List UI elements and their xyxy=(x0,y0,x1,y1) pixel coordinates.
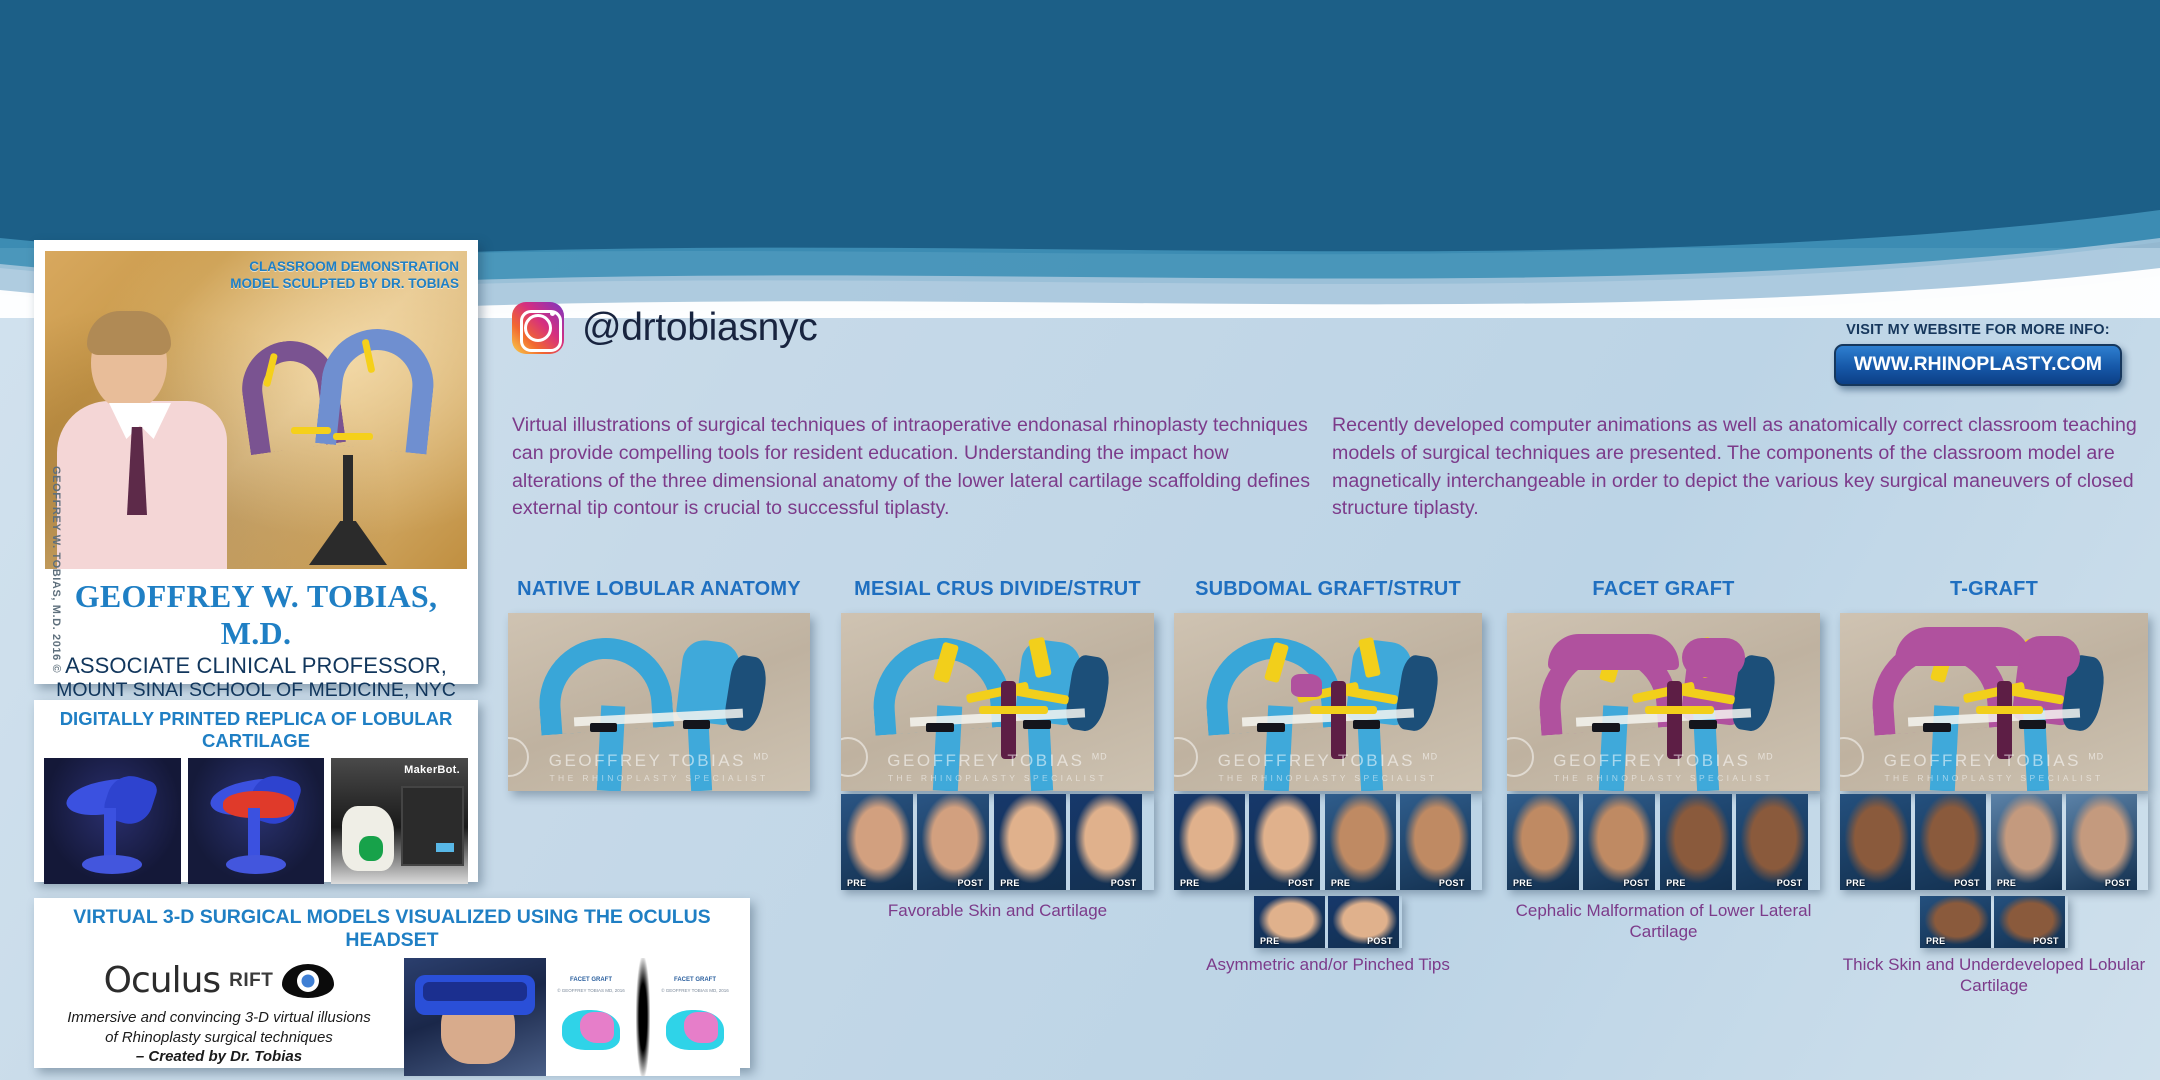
post-label: POST xyxy=(1367,936,1393,946)
technique-title: T-GRAFT xyxy=(1840,578,2148,601)
poster-header xyxy=(0,0,2160,248)
technique-caption: Thick Skin and Underdeveloped Lobular Ca… xyxy=(1840,954,2148,997)
t-graft-cap-right xyxy=(2019,636,2081,679)
facet-graft-cap-right xyxy=(1682,638,1745,677)
model-watermark: GEOFFREY TOBIAS MDTHE RHINOPLASTY SPECIA… xyxy=(508,751,810,783)
pre-label: PRE xyxy=(1260,936,1279,946)
post-label: POST xyxy=(958,878,984,888)
post-op-photo: POST xyxy=(1400,794,1471,890)
vr-stereo-view: FACET GRAFT © GEOFFREY TOBIAS MD, 2016 F… xyxy=(546,958,740,1076)
pre-label: PRE xyxy=(1000,878,1019,888)
technique-caption: Asymmetric and/or Pinched Tips xyxy=(1174,954,1482,975)
photo-caption-line1: CLASSROOM DEMONSTRATION xyxy=(230,259,459,276)
eye-icon xyxy=(282,964,334,998)
poster-canvas: TOBIAS RHINOPLASTY REVOLUTION 2025 3-D M… xyxy=(0,0,2160,1080)
subdomal-graft xyxy=(1291,674,1322,697)
technique-title: MESIAL CRUS DIVIDE/STRUT xyxy=(841,578,1154,601)
post-op-photo: POST xyxy=(1583,794,1655,890)
doctor-institution: MOUNT SINAI SCHOOL OF MEDICINE, NYC xyxy=(45,679,467,702)
technique-column-1: NATIVE LOBULAR ANATOMYGEOFFREY TOBIAS MD… xyxy=(508,578,810,791)
pre-post-basal-strip: PREPOST xyxy=(1254,896,1402,948)
pre-post-photo-strip: PREPOSTPREPOST xyxy=(1507,794,1820,890)
pre-op-photo: PRE xyxy=(994,794,1066,890)
technique-columns: NATIVE LOBULAR ANATOMYGEOFFREY TOBIAS MD… xyxy=(508,578,2148,1078)
technique-column-5: T-GRAFTGEOFFREY TOBIAS MDTHE RHINOPLASTY… xyxy=(1840,578,2148,791)
technique-column-3: SUBDOMAL GRAFT/STRUTGEOFFREY TOBIAS MDTH… xyxy=(1174,578,1482,791)
technique-model-image: GEOFFREY TOBIAS MDTHE RHINOPLASTY SPECIA… xyxy=(508,613,810,791)
abstract-paragraph-right: Recently developed computer animations a… xyxy=(1332,412,2142,523)
doctor-figure xyxy=(57,311,243,569)
model-watermark: GEOFFREY TOBIAS MDTHE RHINOPLASTY SPECIA… xyxy=(1174,751,1482,783)
pre-op-photo: PRE xyxy=(1920,896,1991,948)
pre-label: PRE xyxy=(1331,878,1350,888)
post-label: POST xyxy=(1439,878,1465,888)
columellar-strut xyxy=(1331,681,1346,759)
website-block: VISIT MY WEBSITE FOR MORE INFO: WWW.RHIN… xyxy=(1834,322,2122,386)
technique-title: SUBDOMAL GRAFT/STRUT xyxy=(1174,578,1482,601)
oculus-caption-line1: Immersive and convincing 3-D virtual ill… xyxy=(44,1008,394,1028)
instagram-row[interactable]: @drtobiasnyc xyxy=(512,302,817,354)
pre-label: PRE xyxy=(847,878,866,888)
oculus-caption-line2: of Rhinoplasty surgical techniques xyxy=(44,1028,394,1048)
technique-model-image: GEOFFREY TOBIAS MDTHE RHINOPLASTY SPECIA… xyxy=(841,613,1154,791)
pre-op-photo: PRE xyxy=(1254,896,1325,948)
oculus-caption-line3: – Created by Dr. Tobias xyxy=(136,1048,302,1065)
post-label: POST xyxy=(1111,878,1137,888)
post-op-photo: POST xyxy=(1736,794,1808,890)
instagram-handle[interactable]: @drtobiasnyc xyxy=(582,306,817,350)
printed-replica-title: DIGITALLY PRINTED REPLICA OF LOBULAR CAR… xyxy=(44,708,468,752)
pre-label: PRE xyxy=(1997,878,2016,888)
post-op-photo: POST xyxy=(1249,794,1320,890)
oculus-card: VIRTUAL 3-D SURGICAL MODELS VISUALIZED U… xyxy=(34,898,750,1068)
technique-model-image: GEOFFREY TOBIAS MDTHE RHINOPLASTY SPECIA… xyxy=(1174,613,1482,791)
pre-label: PRE xyxy=(1926,936,1945,946)
post-op-photo: POST xyxy=(1328,896,1399,948)
technique-model-image: GEOFFREY TOBIAS MDTHE RHINOPLASTY SPECIA… xyxy=(1840,613,2148,791)
post-label: POST xyxy=(1288,878,1314,888)
abstract-paragraph-left: Virtual illustrations of surgical techni… xyxy=(512,412,1312,523)
post-label: POST xyxy=(1954,878,1980,888)
yellow-marker xyxy=(1976,706,2044,715)
model-watermark: GEOFFREY TOBIAS MDTHE RHINOPLASTY SPECIA… xyxy=(841,751,1154,783)
doctor-photo: CLASSROOM DEMONSTRATION MODEL SCULPTED B… xyxy=(45,251,467,569)
pre-op-photo: PRE xyxy=(841,794,913,890)
yellow-marker xyxy=(979,706,1048,715)
columellar-strut xyxy=(1001,681,1017,759)
post-op-photo: POST xyxy=(1915,794,1986,890)
vr-pane-title-right: FACET GRAFT xyxy=(650,977,740,983)
technique-title: FACET GRAFT xyxy=(1507,578,1820,601)
facet-graft-cap xyxy=(1548,634,1679,670)
pre-op-photo: PRE xyxy=(1991,794,2062,890)
bio-card: CLASSROOM DEMONSTRATION MODEL SCULPTED B… xyxy=(34,240,478,684)
pre-post-photo-strip: PREPOSTPREPOST xyxy=(841,794,1154,890)
pre-label: PRE xyxy=(1513,878,1532,888)
pre-op-photo: PRE xyxy=(1660,794,1732,890)
oculus-wordmark: Oculus xyxy=(104,960,221,1001)
t-graft-cap xyxy=(1895,627,2031,666)
pre-label: PRE xyxy=(1846,878,1865,888)
vr-pane-title-left: FACET GRAFT xyxy=(546,977,636,983)
instagram-icon[interactable] xyxy=(512,302,564,354)
vr-headset-photo xyxy=(404,958,546,1076)
technique-caption: Favorable Skin and Cartilage xyxy=(841,900,1154,921)
post-op-photo: POST xyxy=(2066,794,2137,890)
pre-label: PRE xyxy=(1180,878,1199,888)
post-label: POST xyxy=(1624,878,1650,888)
makerbot-logo: MakerBot. xyxy=(404,764,460,776)
vr-pane-sub-left: © GEOFFREY TOBIAS MD, 2016 xyxy=(546,988,636,993)
photo-caption-line2: MODEL SCULPTED BY DR. TOBIAS xyxy=(230,276,459,293)
oculus-card-title: VIRTUAL 3-D SURGICAL MODELS VISUALIZED U… xyxy=(44,906,740,952)
columellar-strut xyxy=(1667,681,1683,759)
pre-post-basal-strip: PREPOST xyxy=(1920,896,2068,948)
model-watermark: GEOFFREY TOBIAS MDTHE RHINOPLASTY SPECIA… xyxy=(1507,751,1820,783)
replica-photo-red xyxy=(188,758,325,884)
yellow-marker xyxy=(1310,706,1378,715)
pre-label: PRE xyxy=(1666,878,1685,888)
technique-title: NATIVE LOBULAR ANATOMY xyxy=(508,578,810,601)
pre-op-photo: PRE xyxy=(1840,794,1911,890)
cartilage-demo-model xyxy=(237,315,457,565)
pre-op-photo: PRE xyxy=(1174,794,1245,890)
technique-model-image: GEOFFREY TOBIAS MDTHE RHINOPLASTY SPECIA… xyxy=(1507,613,1820,791)
columellar-strut xyxy=(1997,681,2012,759)
technique-column-2: MESIAL CRUS DIVIDE/STRUTGEOFFREY TOBIAS … xyxy=(841,578,1154,791)
website-url-button[interactable]: WWW.RHINOPLASTY.COM xyxy=(1834,344,2122,386)
website-label: VISIT MY WEBSITE FOR MORE INFO: xyxy=(1834,322,2122,338)
pre-post-photo-strip: PREPOSTPREPOST xyxy=(1840,794,2148,890)
doctor-title: ASSOCIATE CLINICAL PROFESSOR, xyxy=(45,653,467,679)
post-op-photo: POST xyxy=(1070,794,1142,890)
vertical-copyright: GEOFFREY W. TOBIAS, M.D. 2016 © xyxy=(50,466,62,666)
oculus-caption: Immersive and convincing 3-D virtual ill… xyxy=(44,1008,394,1067)
post-op-photo: POST xyxy=(917,794,989,890)
pre-op-photo: PRE xyxy=(1325,794,1396,890)
vr-pane-sub-right: © GEOFFREY TOBIAS MD, 2016 xyxy=(650,988,740,993)
technique-column-4: FACET GRAFTGEOFFREY TOBIAS MDTHE RHINOPL… xyxy=(1507,578,1820,791)
printed-replica-card: DIGITALLY PRINTED REPLICA OF LOBULAR CAR… xyxy=(34,700,478,882)
pre-post-photo-strip: PREPOSTPREPOST xyxy=(1174,794,1482,890)
post-op-photo: POST xyxy=(1994,896,2065,948)
post-label: POST xyxy=(2033,936,2059,946)
oculus-brand: Oculus RIFT xyxy=(44,960,394,1001)
doctor-name: GEOFFREY W. TOBIAS, M.D. xyxy=(45,578,467,652)
pre-op-photo: PRE xyxy=(1507,794,1579,890)
yellow-marker xyxy=(1645,706,1714,715)
post-label: POST xyxy=(1777,878,1803,888)
technique-caption: Cephalic Malformation of Lower Lateral C… xyxy=(1507,900,1820,943)
oculus-model-name: RIFT xyxy=(229,970,273,992)
replica-photo-blue xyxy=(44,758,181,884)
makerbot-printer-photo: MakerBot. xyxy=(331,758,468,884)
photo-caption: CLASSROOM DEMONSTRATION MODEL SCULPTED B… xyxy=(230,259,459,293)
post-label: POST xyxy=(2105,878,2131,888)
model-watermark: GEOFFREY TOBIAS MDTHE RHINOPLASTY SPECIA… xyxy=(1840,751,2148,783)
